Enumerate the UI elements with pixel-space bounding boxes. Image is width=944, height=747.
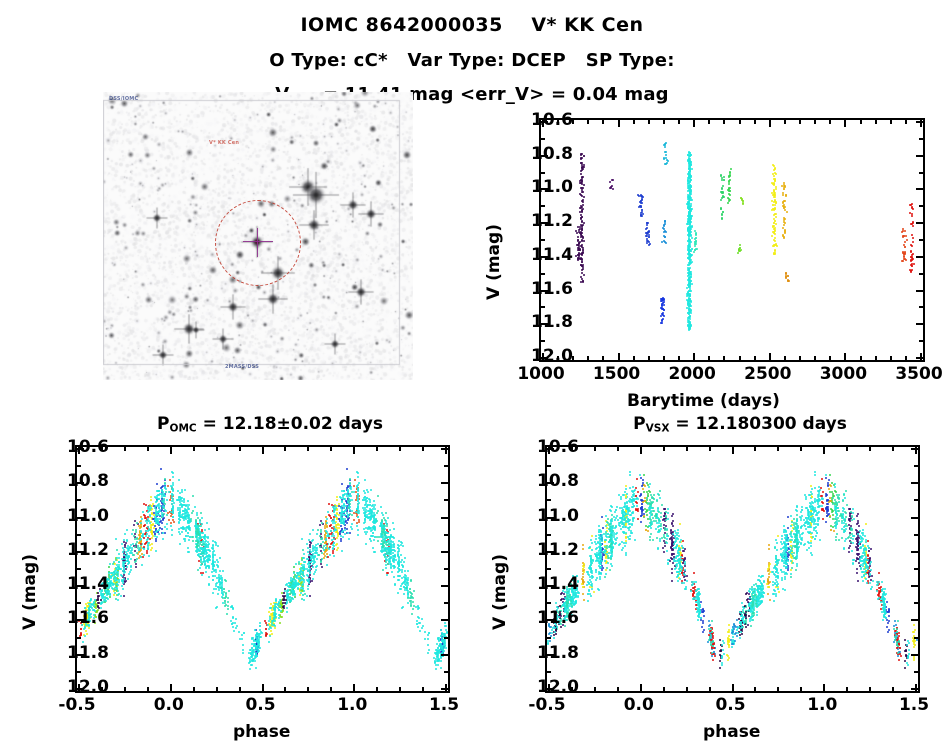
data-point bbox=[720, 199, 722, 201]
data-point bbox=[321, 566, 323, 568]
data-point bbox=[251, 643, 253, 645]
x-tick-minor bbox=[307, 687, 309, 691]
data-point bbox=[192, 540, 194, 542]
data-point bbox=[693, 251, 695, 253]
data-point bbox=[156, 536, 158, 538]
data-point bbox=[400, 544, 402, 546]
data-point bbox=[333, 520, 335, 522]
x-tick-minor bbox=[799, 120, 801, 124]
data-point bbox=[903, 235, 905, 237]
data-point bbox=[407, 602, 409, 604]
data-point bbox=[579, 249, 581, 251]
data-point bbox=[165, 491, 167, 493]
data-point bbox=[688, 269, 690, 271]
data-point bbox=[327, 556, 329, 558]
data-point bbox=[194, 506, 196, 508]
data-point bbox=[338, 527, 340, 529]
data-point bbox=[581, 253, 583, 255]
data-point bbox=[192, 536, 194, 538]
data-point bbox=[233, 630, 235, 632]
data-point bbox=[382, 546, 384, 548]
data-point bbox=[358, 521, 360, 523]
data-point bbox=[775, 202, 777, 204]
data-point bbox=[662, 227, 664, 229]
data-point bbox=[260, 631, 262, 633]
data-point bbox=[646, 227, 648, 229]
x-tick-minor bbox=[890, 120, 892, 124]
data-point bbox=[185, 505, 187, 507]
data-point bbox=[163, 499, 165, 501]
data-point bbox=[123, 574, 125, 576]
x-tick bbox=[170, 684, 172, 691]
data-point bbox=[382, 514, 384, 516]
data-point bbox=[154, 525, 156, 527]
data-point bbox=[241, 634, 243, 636]
data-point bbox=[303, 590, 305, 592]
data-point bbox=[269, 618, 271, 620]
data-point bbox=[775, 173, 777, 175]
data-point bbox=[372, 532, 374, 534]
x-tick-minor bbox=[890, 356, 892, 360]
data-point bbox=[691, 237, 693, 239]
data-point bbox=[723, 196, 725, 198]
data-point bbox=[711, 655, 713, 657]
data-point bbox=[169, 479, 171, 481]
data-point bbox=[783, 224, 785, 226]
data-point bbox=[158, 529, 160, 531]
data-point bbox=[274, 609, 276, 611]
data-point bbox=[144, 543, 146, 545]
data-point bbox=[136, 537, 138, 539]
data-point bbox=[284, 602, 286, 604]
data-point bbox=[88, 603, 90, 605]
data-point bbox=[117, 590, 119, 592]
x-tick bbox=[693, 120, 695, 127]
data-point bbox=[282, 599, 284, 601]
data-point bbox=[234, 622, 236, 624]
data-point bbox=[255, 647, 257, 649]
data-point bbox=[728, 183, 730, 185]
data-point bbox=[179, 533, 181, 535]
data-point bbox=[412, 597, 414, 599]
data-point bbox=[219, 570, 221, 572]
data-point bbox=[199, 567, 201, 569]
data-point bbox=[166, 528, 168, 530]
data-point bbox=[351, 499, 353, 501]
y-tick-minor bbox=[444, 499, 448, 501]
data-point bbox=[259, 625, 261, 627]
data-point bbox=[774, 250, 776, 252]
data-point bbox=[445, 625, 447, 627]
data-point bbox=[904, 241, 906, 243]
data-point bbox=[265, 632, 267, 634]
data-point bbox=[349, 506, 351, 508]
data-point bbox=[727, 202, 729, 204]
data-point bbox=[787, 280, 789, 282]
x-tick-minor bbox=[648, 356, 650, 360]
data-point bbox=[158, 490, 160, 492]
data-point bbox=[158, 514, 160, 516]
data-point bbox=[223, 588, 225, 590]
data-point bbox=[320, 529, 322, 531]
data-point bbox=[772, 164, 774, 166]
data-point bbox=[227, 601, 229, 603]
data-point bbox=[255, 653, 257, 655]
y-tick bbox=[441, 585, 448, 587]
data-point bbox=[336, 509, 338, 511]
data-point bbox=[279, 622, 281, 624]
data-point bbox=[386, 574, 388, 576]
data-point bbox=[319, 524, 321, 526]
data-point bbox=[435, 668, 437, 670]
y-tick bbox=[916, 256, 923, 258]
data-point bbox=[392, 552, 394, 554]
data-point bbox=[357, 495, 359, 497]
data-point bbox=[902, 252, 904, 254]
data-point bbox=[384, 534, 386, 536]
data-point bbox=[911, 203, 913, 205]
data-point bbox=[772, 231, 774, 233]
data-point bbox=[384, 549, 386, 551]
data-point bbox=[218, 576, 220, 578]
data-point bbox=[640, 521, 642, 523]
phase-omc-title-rest: = 12.18±0.02 days bbox=[197, 414, 383, 434]
data-point bbox=[260, 636, 262, 638]
data-point bbox=[393, 555, 395, 557]
x-tick-minor bbox=[147, 447, 149, 451]
data-point bbox=[852, 508, 854, 510]
data-point bbox=[300, 569, 302, 571]
data-point bbox=[328, 537, 330, 539]
data-point bbox=[666, 159, 668, 161]
data-point bbox=[327, 511, 329, 513]
x-tick-minor bbox=[587, 120, 589, 124]
data-point bbox=[364, 479, 366, 481]
data-point bbox=[351, 491, 353, 493]
x-tick-minor bbox=[602, 120, 604, 124]
data-point bbox=[80, 632, 82, 634]
data-point bbox=[127, 563, 129, 565]
x-tick-minor bbox=[905, 120, 907, 124]
data-point bbox=[582, 168, 584, 170]
data-point bbox=[645, 228, 647, 230]
data-point bbox=[150, 496, 152, 498]
data-point bbox=[401, 569, 403, 571]
data-point bbox=[664, 151, 666, 153]
data-point bbox=[270, 627, 272, 629]
data-point bbox=[340, 507, 342, 509]
data-point bbox=[665, 163, 667, 165]
data-point bbox=[441, 637, 443, 639]
data-point bbox=[227, 597, 229, 599]
phase-vsx-plot-frame bbox=[545, 445, 920, 693]
data-point bbox=[115, 538, 117, 540]
y-tick-minor bbox=[541, 340, 545, 342]
phase-omc-title-sub: OMC bbox=[170, 422, 197, 434]
data-point bbox=[642, 213, 644, 215]
data-point bbox=[343, 498, 345, 500]
data-point bbox=[825, 507, 827, 509]
data-point bbox=[201, 563, 203, 565]
x-tick-minor bbox=[875, 356, 877, 360]
data-point bbox=[427, 638, 429, 640]
data-point bbox=[308, 580, 310, 582]
data-point bbox=[664, 236, 666, 238]
data-point bbox=[910, 271, 912, 273]
data-point bbox=[138, 557, 140, 559]
x-tick-minor bbox=[708, 120, 710, 124]
data-point bbox=[166, 514, 168, 516]
data-point bbox=[911, 234, 913, 236]
x-tick-minor bbox=[814, 120, 816, 124]
y-tick-minor bbox=[77, 602, 81, 604]
data-point bbox=[303, 553, 305, 555]
data-point bbox=[403, 593, 405, 595]
data-point bbox=[291, 589, 293, 591]
data-point bbox=[911, 254, 913, 256]
y-tick-minor bbox=[541, 138, 545, 140]
data-point bbox=[136, 522, 138, 524]
y-tick-minor bbox=[919, 205, 923, 207]
data-point bbox=[155, 540, 157, 542]
x-tick-minor bbox=[739, 120, 741, 124]
data-point bbox=[436, 643, 438, 645]
data-point bbox=[121, 558, 123, 560]
data-point bbox=[358, 502, 360, 504]
data-point bbox=[773, 175, 775, 177]
data-point bbox=[373, 500, 375, 502]
data-point bbox=[274, 603, 276, 605]
phase-vsx-title-sub: VSX bbox=[646, 422, 670, 434]
x-tick-minor bbox=[663, 356, 665, 360]
data-point bbox=[354, 479, 356, 481]
x-tick-minor bbox=[239, 447, 241, 451]
data-point bbox=[148, 542, 150, 544]
x-tick bbox=[170, 447, 172, 454]
data-point bbox=[349, 513, 351, 515]
data-point bbox=[167, 485, 169, 487]
data-point bbox=[221, 579, 223, 581]
data-point bbox=[894, 620, 896, 622]
data-point bbox=[583, 196, 585, 198]
data-point bbox=[333, 545, 335, 547]
data-point bbox=[392, 522, 394, 524]
data-point bbox=[118, 553, 120, 555]
data-point bbox=[723, 176, 725, 178]
data-point bbox=[85, 630, 87, 632]
data-point bbox=[690, 235, 692, 237]
data-point bbox=[438, 649, 440, 651]
data-point bbox=[213, 550, 215, 552]
data-point bbox=[440, 667, 442, 669]
data-point bbox=[151, 537, 153, 539]
data-point bbox=[400, 588, 402, 590]
data-point bbox=[740, 249, 742, 251]
y-tick-minor bbox=[541, 172, 545, 174]
data-point bbox=[148, 555, 150, 557]
data-point bbox=[105, 600, 107, 602]
data-point bbox=[205, 566, 207, 568]
data-point bbox=[356, 525, 358, 527]
data-point bbox=[254, 629, 256, 631]
phase-omc-x-axis-label: phase bbox=[233, 722, 290, 742]
data-point bbox=[357, 534, 359, 536]
data-point bbox=[390, 557, 392, 559]
data-point bbox=[205, 536, 207, 538]
data-point bbox=[690, 189, 692, 191]
data-point bbox=[772, 173, 774, 175]
data-point bbox=[208, 584, 210, 586]
data-point bbox=[583, 222, 585, 224]
data-point bbox=[323, 557, 325, 559]
x-tick-minor bbox=[905, 356, 907, 360]
data-point bbox=[582, 187, 584, 189]
data-point bbox=[370, 540, 372, 542]
data-point bbox=[117, 575, 119, 577]
data-point bbox=[179, 492, 181, 494]
data-point bbox=[336, 549, 338, 551]
data-point bbox=[365, 533, 367, 535]
y-tick-minor bbox=[541, 205, 545, 207]
data-point bbox=[280, 610, 282, 612]
data-point bbox=[732, 636, 734, 638]
data-point bbox=[580, 158, 582, 160]
data-point bbox=[581, 269, 583, 271]
crosshair-vertical bbox=[257, 228, 258, 257]
data-point bbox=[774, 167, 776, 169]
data-point bbox=[320, 560, 322, 562]
data-point bbox=[115, 569, 117, 571]
data-point bbox=[691, 168, 693, 170]
data-point bbox=[135, 543, 137, 545]
phase-vsx-title-rest: = 12.180300 days bbox=[669, 414, 846, 434]
data-point bbox=[166, 523, 168, 525]
data-point bbox=[825, 495, 827, 497]
data-point bbox=[268, 611, 270, 613]
data-point bbox=[222, 593, 224, 595]
data-point bbox=[206, 522, 208, 524]
data-point bbox=[382, 536, 384, 538]
data-point bbox=[311, 580, 313, 582]
x-tick-minor bbox=[633, 356, 635, 360]
data-point bbox=[269, 635, 271, 637]
data-point bbox=[641, 209, 643, 211]
data-point bbox=[200, 541, 202, 543]
data-point bbox=[689, 214, 691, 216]
data-point bbox=[391, 536, 393, 538]
data-point bbox=[374, 536, 376, 538]
data-point bbox=[336, 499, 338, 501]
data-point bbox=[303, 575, 305, 577]
data-point bbox=[409, 600, 411, 602]
data-point bbox=[422, 625, 424, 627]
y-tick-minor bbox=[444, 671, 448, 673]
data-point bbox=[773, 239, 775, 241]
data-point bbox=[110, 572, 112, 574]
data-point bbox=[364, 521, 366, 523]
phase-vsx-title-prefix: P bbox=[633, 414, 645, 434]
data-point bbox=[238, 631, 240, 633]
data-point bbox=[411, 593, 413, 595]
data-point bbox=[728, 193, 730, 195]
data-point bbox=[893, 641, 895, 643]
data-point bbox=[688, 236, 690, 238]
y-tick-minor bbox=[919, 340, 923, 342]
data-point bbox=[390, 553, 392, 555]
data-point bbox=[201, 517, 203, 519]
data-point bbox=[141, 564, 143, 566]
data-point bbox=[382, 569, 384, 571]
data-point bbox=[372, 547, 374, 549]
data-point bbox=[397, 592, 399, 594]
data-point bbox=[366, 489, 368, 491]
data-point bbox=[127, 550, 129, 552]
data-point bbox=[235, 618, 237, 620]
x-tick-minor bbox=[814, 356, 816, 360]
object-type-line: O Type: cC* Var Type: DCEP SP Type: bbox=[0, 50, 944, 71]
x-tick-minor bbox=[399, 447, 401, 451]
data-point bbox=[155, 550, 157, 552]
data-point bbox=[904, 230, 906, 232]
data-point bbox=[340, 535, 342, 537]
data-point bbox=[217, 565, 219, 567]
x-tick-minor bbox=[422, 687, 424, 691]
data-point bbox=[274, 625, 276, 627]
data-point bbox=[309, 595, 311, 597]
data-point bbox=[906, 239, 908, 241]
data-point bbox=[580, 154, 582, 156]
data-point bbox=[344, 533, 346, 535]
data-point bbox=[294, 586, 296, 588]
data-point bbox=[212, 555, 214, 557]
x-tick bbox=[844, 353, 846, 360]
data-point bbox=[188, 539, 190, 541]
data-point bbox=[254, 660, 256, 662]
data-point bbox=[142, 511, 144, 513]
data-point bbox=[303, 568, 305, 570]
data-point bbox=[217, 545, 219, 547]
data-point bbox=[329, 546, 331, 548]
phase-vsx-title: PVSX = 12.180300 days bbox=[545, 414, 935, 434]
data-point bbox=[306, 543, 308, 545]
data-point bbox=[407, 597, 409, 599]
data-point bbox=[386, 541, 388, 543]
data-point bbox=[156, 483, 158, 485]
data-point bbox=[259, 622, 261, 624]
data-point bbox=[639, 495, 641, 497]
x-tick-minor bbox=[754, 356, 756, 360]
data-point bbox=[205, 545, 207, 547]
y-tick bbox=[441, 619, 448, 621]
data-point bbox=[689, 193, 691, 195]
data-point bbox=[775, 216, 777, 218]
data-point bbox=[640, 206, 642, 208]
data-point bbox=[660, 322, 662, 324]
data-point bbox=[207, 555, 209, 557]
data-point bbox=[342, 536, 344, 538]
data-point bbox=[122, 563, 124, 565]
data-point bbox=[774, 240, 776, 242]
data-point bbox=[323, 545, 325, 547]
y-tick bbox=[916, 155, 923, 157]
data-point bbox=[120, 595, 122, 597]
data-point bbox=[738, 249, 740, 251]
y-tick-minor bbox=[919, 172, 923, 174]
y-tick-minor bbox=[541, 306, 545, 308]
data-point bbox=[286, 607, 288, 609]
data-point bbox=[323, 549, 325, 551]
data-point bbox=[302, 594, 304, 596]
